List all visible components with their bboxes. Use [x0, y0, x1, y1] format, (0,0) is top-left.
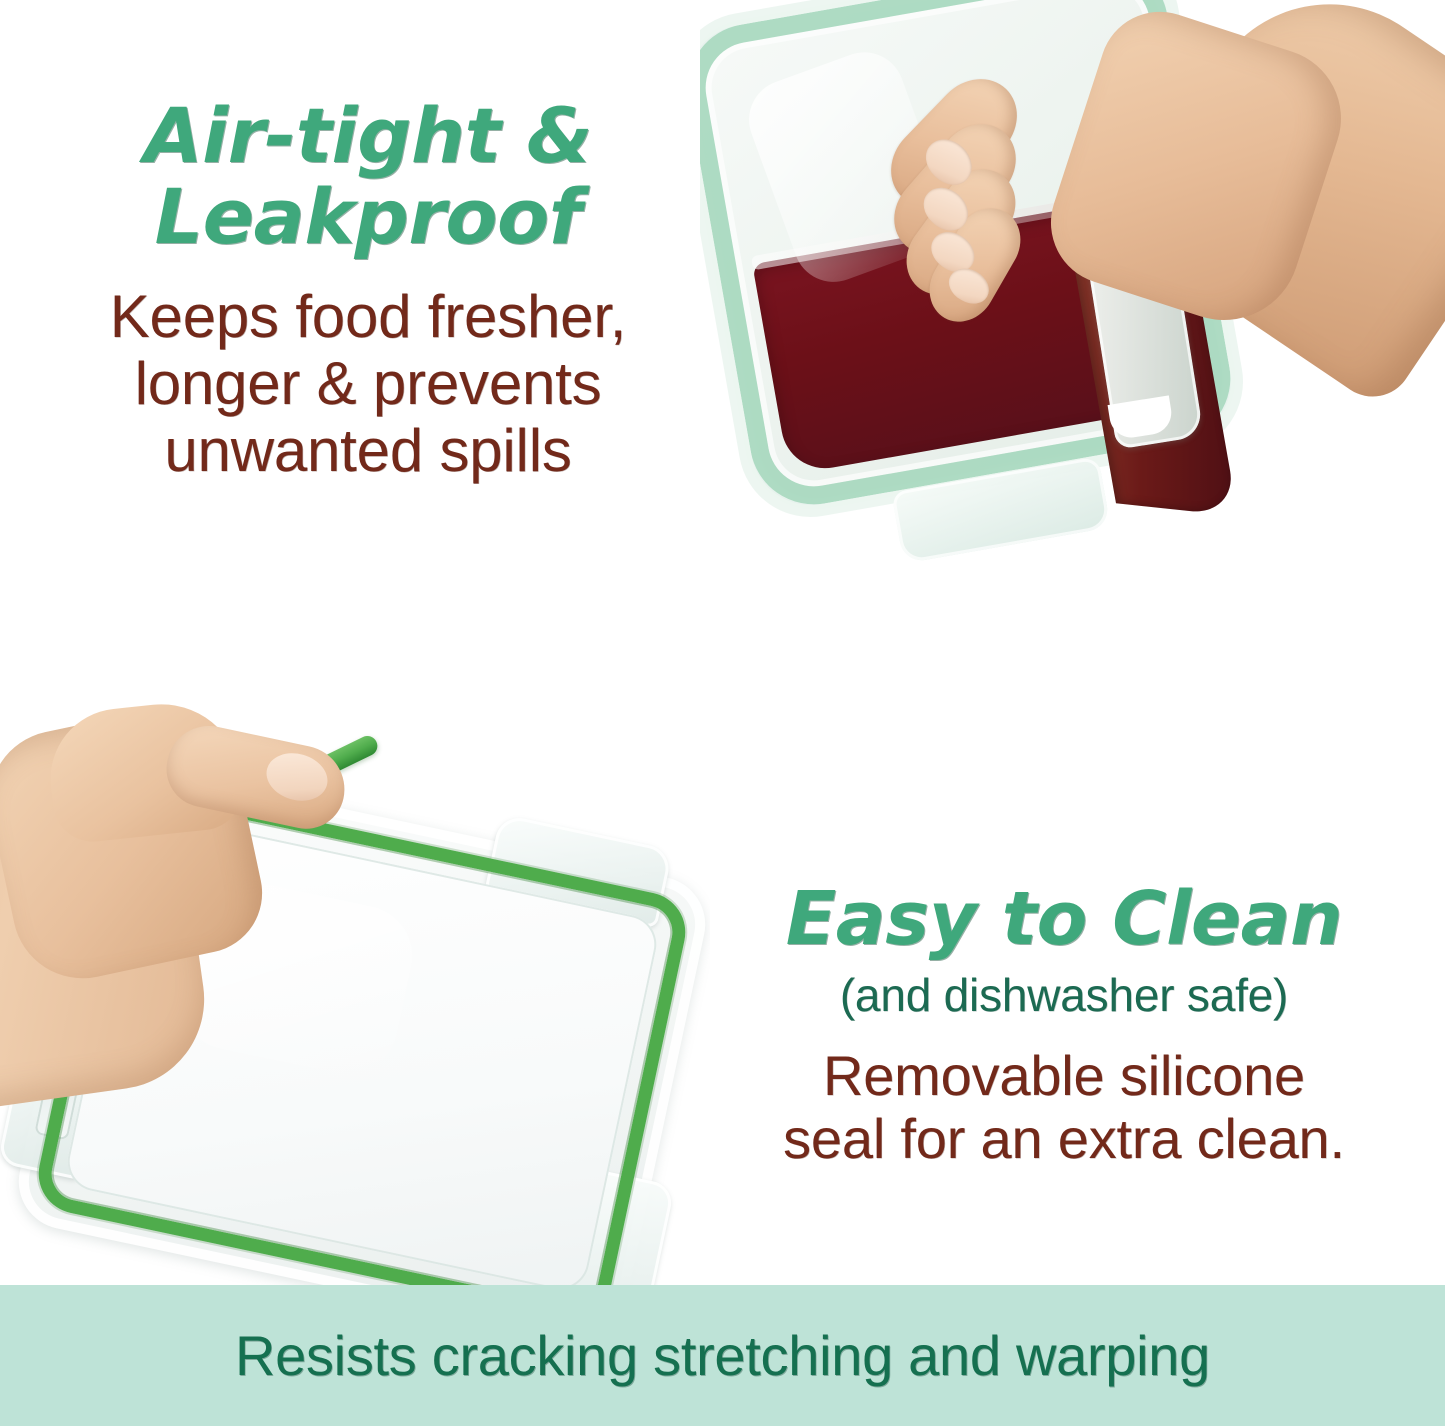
air-tight-body: Keeps food fresher, longer & prevents un… — [18, 283, 718, 485]
photo-scene — [700, 0, 1445, 750]
air-tight-body-line-2: longer & prevents — [18, 350, 718, 417]
feature-block-easy-to-clean: Easy to Clean (and dishwasher safe) Remo… — [705, 880, 1423, 1170]
air-tight-headline: Air-tight & Leakproof — [18, 96, 718, 257]
air-tight-body-line-1: Keeps food fresher, — [18, 283, 718, 350]
feature-block-air-tight: Air-tight & Leakproof Keeps food fresher… — [18, 96, 718, 485]
footer-banner: Resists cracking stretching and warping — [0, 1285, 1445, 1426]
easy-to-clean-body-line-2: seal for an extra clean. — [705, 1108, 1423, 1171]
easy-to-clean-body-line-1: Removable silicone — [705, 1045, 1423, 1108]
air-tight-headline-line-2: Leakproof — [18, 177, 718, 258]
infographic-canvas: Air-tight & Leakproof Keeps food fresher… — [0, 0, 1445, 1426]
easy-to-clean-headline: Easy to Clean — [705, 880, 1423, 958]
photo-hand-peeling-silicone-seal — [0, 700, 710, 1300]
easy-to-clean-subhead: (and dishwasher safe) — [705, 970, 1423, 1021]
easy-to-clean-body: Removable silicone seal for an extra cle… — [705, 1045, 1423, 1170]
air-tight-body-line-3: unwanted spills — [18, 417, 718, 484]
air-tight-headline-line-1: Air-tight & — [18, 96, 718, 177]
easy-to-clean-headline-line-1: Easy to Clean — [705, 880, 1423, 958]
photo-hand-holding-sealed-container — [700, 0, 1445, 750]
footer-banner-text: Resists cracking stretching and warping — [235, 1323, 1210, 1388]
